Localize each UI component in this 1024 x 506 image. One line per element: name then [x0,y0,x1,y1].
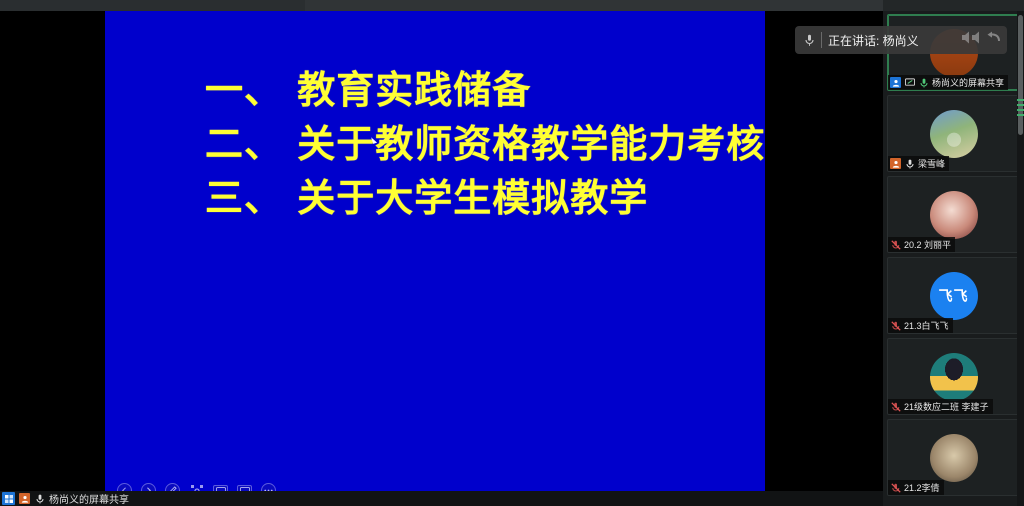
active-speaker-pill: 正在讲话: 杨尚义 [795,26,1007,54]
microphone-active-icon [918,77,929,88]
participant-namebar: 21.2李倩 [888,480,944,495]
arrow-return-icon[interactable] [986,31,1001,49]
microphone-muted-icon [890,320,901,331]
microphone-icon [803,32,815,48]
participant-name: 21.2李倩 [904,481,940,494]
slide-line-2: 二、 关于教师资格教学能力考核 [205,117,775,171]
taskbar-host-badge-icon [19,493,30,504]
meeting-window: 一、 教育实践储备 二、 关于教师资格教学能力考核 三、 关于大学生模拟教学 [0,0,1024,506]
avatar-initials: 飞飞 [939,286,969,306]
slide-line-3: 三、 关于大学生模拟教学 [205,171,775,225]
participant-namebar: 21级数应二班 李建子 [888,399,993,414]
shared-screen-area: 一、 教育实践储备 二、 关于教师资格教学能力考核 三、 关于大学生模拟教学 [0,11,883,506]
participant-tile-liqian[interactable]: 21.2李倩 [887,419,1020,496]
participant-name: 20.2 刘丽平 [904,238,951,251]
title-strip-center [305,0,883,11]
presentation-slide: 一、 教育实践储备 二、 关于教师资格教学能力考核 三、 关于大学生模拟教学 [105,11,765,506]
avatar [930,191,978,239]
participant-tile-liulipping[interactable]: 20.2 刘丽平 [887,176,1020,253]
avatar [930,353,978,401]
scroll-marker [1017,104,1024,106]
title-strip-right [883,0,1024,11]
microphone-muted-icon [890,482,901,493]
participant-name: 杨尚义的屏幕共享 [932,76,1004,89]
pill-divider [821,32,822,48]
speaker-icon[interactable] [960,30,982,50]
active-speaker-label: 正在讲话: 杨尚义 [828,32,954,49]
participant-name: 21.3白飞飞 [904,319,949,332]
participants-sidebar[interactable]: 杨尚义的屏幕共享 梁雪峰 [883,11,1024,506]
participant-namebar: 梁雪峰 [888,156,949,171]
participant-tile-liangxuefeng[interactable]: 梁雪峰 [887,95,1020,172]
participant-namebar: 21.3白飞飞 [888,318,953,333]
scroll-marker [1017,109,1024,111]
pill-controls[interactable] [960,30,1001,50]
participant-name: 梁雪峰 [918,157,945,170]
participant-name: 21级数应二班 李建子 [904,400,989,413]
scrollbar-thumb[interactable] [1018,15,1023,135]
participant-tile-lijianzi[interactable]: 21级数应二班 李建子 [887,338,1020,415]
avatar: 飞飞 [930,272,978,320]
taskbar-microphone-icon [34,493,45,504]
participant-scrollbar[interactable] [1017,11,1024,506]
title-strip-left [0,0,305,11]
host-badge-icon [890,77,901,88]
slide-line-1: 一、 教育实践储备 [205,63,775,117]
participant-namebar: 杨尚义的屏幕共享 [888,75,1008,90]
shared-screen-taskbar: 杨尚义的屏幕共享 [0,491,883,506]
screen-share-icon [904,77,915,88]
microphone-icon [904,158,915,169]
participant-namebar: 20.2 刘丽平 [888,237,955,252]
avatar [930,434,978,482]
taskbar-label: 杨尚义的屏幕共享 [49,491,129,506]
window-title-strip [0,0,1024,11]
app-logo-icon[interactable] [2,492,15,505]
scroll-marker [1017,114,1024,116]
avatar [930,110,978,158]
slide-text-block: 一、 教育实践储备 二、 关于教师资格教学能力考核 三、 关于大学生模拟教学 [205,63,775,225]
scroll-marker [1017,99,1024,101]
microphone-muted-icon [890,401,901,412]
microphone-muted-icon [890,239,901,250]
host-badge-icon [890,158,901,169]
participant-tile-baifeifei[interactable]: 飞飞 21.3白飞飞 [887,257,1020,334]
